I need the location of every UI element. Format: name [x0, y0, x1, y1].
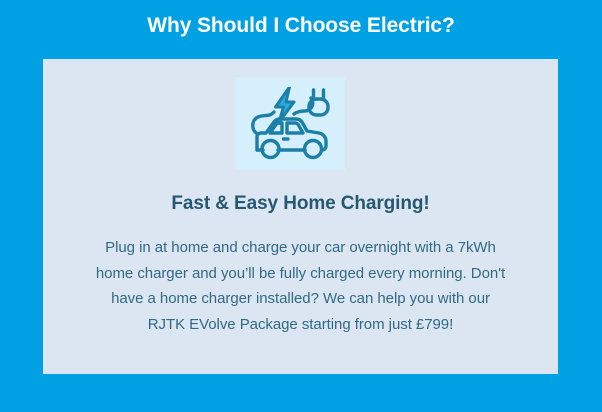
page-title: Why Should I Choose Electric?: [0, 13, 602, 39]
card-body-line: Plug in at home and charge your car over…: [57, 235, 544, 261]
feature-card: Fast & Easy Home Charging! Plug in at ho…: [43, 59, 558, 374]
electric-car-charging-icon: [236, 77, 345, 170]
card-body-line: RJTK EVolve Package starting from just £…: [57, 312, 544, 338]
card-body-line: home charger and you’ll be fully charged…: [57, 261, 544, 287]
promo-banner: Why Should I Choose Electric?: [0, 0, 602, 412]
card-body-text: Plug in at home and charge your car over…: [57, 235, 544, 337]
card-body-line: have a home charger installed? We can he…: [57, 286, 544, 312]
card-heading: Fast & Easy Home Charging!: [43, 192, 558, 216]
